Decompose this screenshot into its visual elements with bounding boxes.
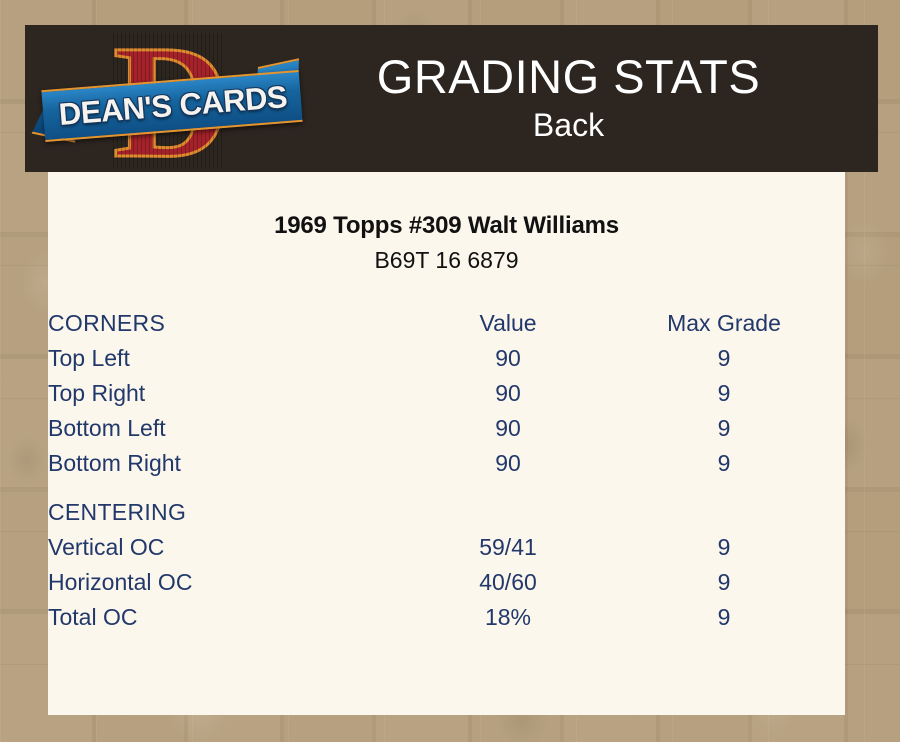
- row-value: 90: [413, 376, 603, 411]
- header-title-block: GRADING STATS Back: [315, 49, 878, 145]
- table-row: Horizontal OC40/609: [48, 565, 845, 600]
- row-value: 40/60: [413, 565, 603, 600]
- column-header-max-grade: [603, 495, 845, 530]
- row-label: Horizontal OC: [48, 565, 413, 600]
- row-max-grade: 9: [603, 446, 845, 481]
- page-title: GRADING STATS: [315, 49, 822, 105]
- table-row: Bottom Left909: [48, 411, 845, 446]
- row-label: Top Left: [48, 341, 413, 376]
- section-header-row: CENTERING: [48, 495, 845, 530]
- row-label: Vertical OC: [48, 530, 413, 565]
- section-spacer: [48, 481, 845, 495]
- column-header-max-grade: Max Grade: [603, 306, 845, 341]
- row-label: Total OC: [48, 600, 413, 635]
- column-header-value: Value: [413, 306, 603, 341]
- section-title-corners: CORNERS: [48, 306, 413, 341]
- row-value: 90: [413, 341, 603, 376]
- page-subtitle: Back: [315, 105, 822, 145]
- row-max-grade: 9: [603, 341, 845, 376]
- row-max-grade: 9: [603, 600, 845, 635]
- card-title: 1969 Topps #309 Walt Williams: [48, 212, 845, 240]
- row-max-grade: 9: [603, 411, 845, 446]
- header-bar: D DEAN'S CARDS GRADING STATS Back: [25, 25, 878, 172]
- spacer-cell: [48, 481, 845, 495]
- grading-stats-table: CORNERSValueMax GradeTop Left909Top Righ…: [48, 306, 845, 635]
- table-row: Vertical OC59/419: [48, 530, 845, 565]
- table-row: Total OC18%9: [48, 600, 845, 635]
- row-max-grade: 9: [603, 565, 845, 600]
- row-value: 90: [413, 446, 603, 481]
- row-value: 18%: [413, 600, 603, 635]
- row-max-grade: 9: [603, 376, 845, 411]
- row-label: Bottom Right: [48, 446, 413, 481]
- table-row: Bottom Right909: [48, 446, 845, 481]
- table-row: Top Left909: [48, 341, 845, 376]
- row-value: 59/41: [413, 530, 603, 565]
- row-max-grade: 9: [603, 530, 845, 565]
- table-row: Top Right909: [48, 376, 845, 411]
- grading-stats-body: CORNERSValueMax GradeTop Left909Top Righ…: [48, 306, 845, 635]
- row-label: Top Right: [48, 376, 413, 411]
- row-value: 90: [413, 411, 603, 446]
- section-title-centering: CENTERING: [48, 495, 413, 530]
- card-code: B69T 16 6879: [48, 247, 845, 274]
- row-label: Bottom Left: [48, 411, 413, 446]
- column-header-value: [413, 495, 603, 530]
- deans-cards-logo[interactable]: D DEAN'S CARDS: [25, 25, 315, 172]
- section-header-row: CORNERSValueMax Grade: [48, 306, 845, 341]
- grading-stats-panel: 1969 Topps #309 Walt Williams B69T 16 68…: [48, 172, 845, 715]
